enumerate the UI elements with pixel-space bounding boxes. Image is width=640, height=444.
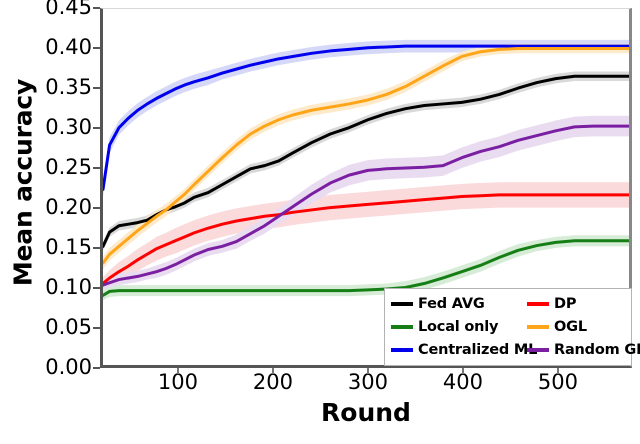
legend-swatch-fed-avg: [391, 302, 413, 306]
legend-item-dp[interactable]: DP: [527, 293, 631, 315]
y-tick-mark: [93, 327, 100, 329]
legend-label-dp: DP: [554, 296, 576, 312]
legend-item-local-only[interactable]: Local only: [391, 316, 527, 338]
x-tick-mark: [367, 368, 369, 374]
y-tick-label: 0.15: [4, 237, 92, 258]
legend-label-local-only: Local only: [418, 319, 498, 335]
y-tick-mark: [93, 7, 100, 9]
x-tick-mark: [462, 368, 464, 374]
x-tick-mark: [272, 368, 274, 374]
y-tick-label: 0.45: [4, 0, 92, 18]
x-tick-label: 100: [133, 372, 223, 393]
y-tick-mark: [93, 287, 100, 289]
y-tick-label: 0.05: [4, 317, 92, 338]
legend-swatch-ogl: [527, 325, 549, 329]
x-tick-label: 500: [513, 372, 603, 393]
legend: Fed AVG Local only Centralized ML DP: [384, 288, 632, 366]
figure: Mean accuracy 0.000.050.100.150.200.250.…: [0, 0, 640, 444]
y-tick-label: 0.00: [4, 357, 92, 378]
legend-label-centralized-ml: Centralized ML: [418, 342, 537, 358]
x-tick-mark: [177, 368, 179, 374]
y-tick-mark: [93, 127, 100, 129]
legend-column-2: DP OGL Random GL: [527, 292, 631, 362]
legend-swatch-local-only: [391, 325, 413, 329]
y-tick-label: 0.35: [4, 77, 92, 98]
legend-item-ogl[interactable]: OGL: [527, 316, 631, 338]
y-tick-mark: [93, 47, 100, 49]
y-tick-mark: [93, 247, 100, 249]
y-tick-label: 0.25: [4, 157, 92, 178]
legend-swatch-centralized-ml: [391, 348, 413, 352]
legend-item-random-gl[interactable]: Random GL: [527, 339, 631, 361]
x-tick-label: 400: [418, 372, 508, 393]
y-tick-label: 0.30: [4, 117, 92, 138]
legend-swatch-dp: [527, 302, 549, 306]
y-tick-mark: [93, 367, 100, 369]
x-axis-label: Round: [100, 398, 632, 427]
x-tick-mark: [557, 368, 559, 374]
y-tick-mark: [93, 207, 100, 209]
legend-swatch-random-gl: [527, 348, 549, 352]
legend-column-1: Fed AVG Local only Centralized ML: [391, 292, 527, 362]
legend-item-centralized-ml[interactable]: Centralized ML: [391, 339, 527, 361]
y-tick-label: 0.40: [4, 37, 92, 58]
x-tick-label: 200: [228, 372, 318, 393]
y-tick-label: 0.10: [4, 277, 92, 298]
legend-label-fed-avg: Fed AVG: [418, 296, 485, 312]
legend-label-ogl: OGL: [554, 319, 587, 335]
y-tick-mark: [93, 87, 100, 89]
y-tick-label: 0.20: [4, 197, 92, 218]
y-tick-mark: [93, 167, 100, 169]
legend-item-fed-avg[interactable]: Fed AVG: [391, 293, 527, 315]
legend-label-random-gl: Random GL: [554, 342, 640, 358]
x-tick-label: 300: [323, 372, 413, 393]
